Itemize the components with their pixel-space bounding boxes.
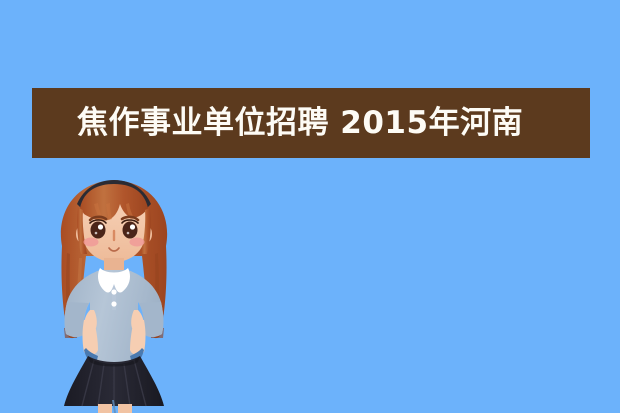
thumbnail-canvas: 焦作事业单位招聘 2015年河南	[0, 0, 620, 413]
cartoon-schoolgirl-illustration	[34, 168, 194, 413]
skirt	[64, 356, 164, 406]
page-title: 焦作事业单位招聘 2015年河南	[77, 108, 523, 139]
title-banner: 焦作事业单位招聘 2015年河南	[32, 88, 590, 158]
